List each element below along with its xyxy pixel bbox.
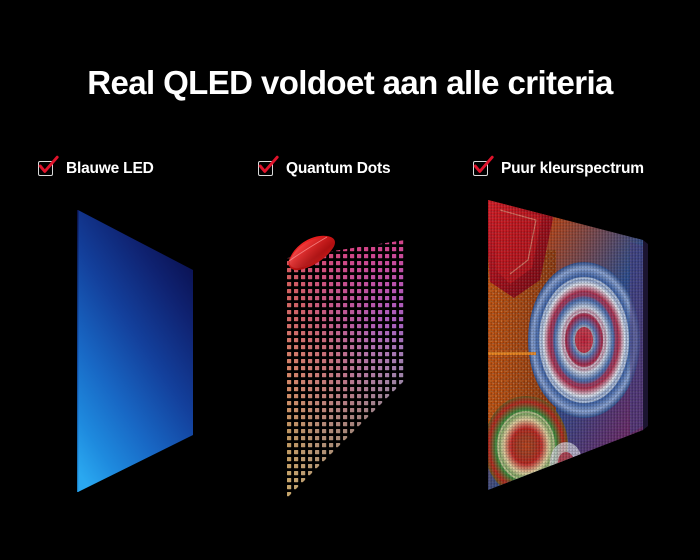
- check-mark-icon: [472, 156, 494, 178]
- color-spectrum-panel: [480, 190, 660, 500]
- qled-feature-graphic: Real QLED voldoet aan alle criteria Blau…: [0, 0, 700, 560]
- panel-side-face: [643, 240, 648, 430]
- blue-panel-left-edge: [77, 210, 79, 492]
- feature-item-blauwe-led: Blauwe LED: [38, 155, 154, 183]
- feature-item-quantum-dots: Quantum Dots: [258, 155, 390, 183]
- page-title: Real QLED voldoet aan alle criteria: [0, 63, 700, 103]
- feature-label-row: Blauwe LED Quantum Dots Puur kleurspectr…: [0, 155, 700, 189]
- check-mark-icon: [257, 156, 279, 178]
- feature-label-text: Puur kleurspectrum: [501, 160, 644, 178]
- feature-label-text: Blauwe LED: [66, 160, 154, 178]
- checked-checkbox-icon: [38, 160, 57, 179]
- feature-label-text: Quantum Dots: [286, 160, 390, 178]
- checked-checkbox-icon: [473, 160, 492, 179]
- feature-item-puur-kleurspectrum: Puur kleurspectrum: [473, 155, 644, 183]
- quantum-dot-panel: [275, 230, 435, 520]
- blue-panel-face: [78, 210, 193, 492]
- check-mark-icon: [37, 156, 59, 178]
- carpet-image: [480, 190, 660, 500]
- quantum-dot-grid: [275, 230, 435, 520]
- blue-led-panel: [60, 195, 220, 515]
- checked-checkbox-icon: [258, 160, 277, 179]
